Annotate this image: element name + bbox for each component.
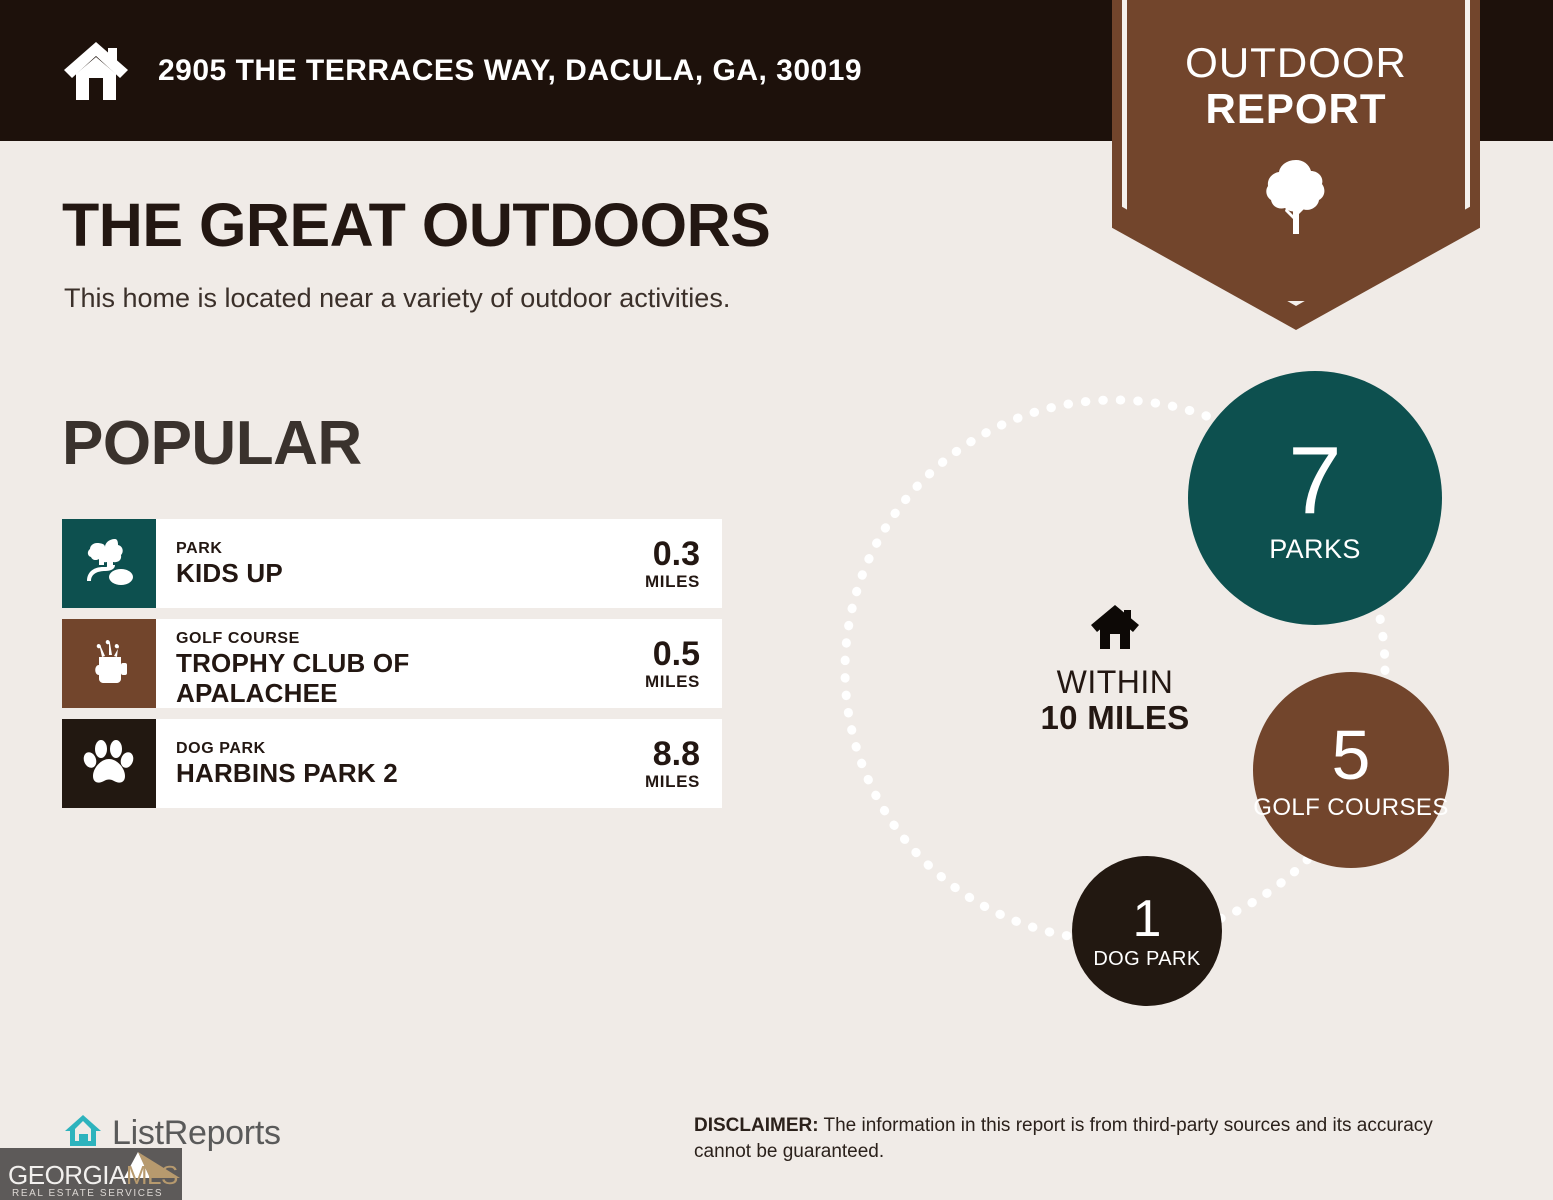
poi-category: DOG PARK [176, 739, 550, 758]
popular-list: PARK KIDS UP 0.3 MILES GOLF COURSE [62, 519, 722, 819]
radius-bubble-diagram: WITHIN 10 MILES 7 PARKS 5 GOLF COURSES 1… [820, 360, 1480, 1040]
bubble-golf-value: 5 [1332, 720, 1371, 790]
poi-name: HARBINS PARK 2 [176, 758, 550, 788]
poi-distance: 8.8 MILES [550, 719, 722, 808]
center-home-marker: WITHIN 10 MILES [1010, 603, 1220, 736]
poi-distance-unit: MILES [645, 572, 700, 592]
popular-heading: POPULAR [62, 408, 362, 479]
poi-distance-value: 0.3 [653, 536, 700, 572]
poi-distance: 0.5 MILES [550, 619, 722, 708]
page-subtitle: This home is located near a variety of o… [64, 283, 730, 314]
bubble-dog-value: 1 [1133, 893, 1162, 945]
bubble-parks-value: 7 [1288, 433, 1341, 529]
poi-icon-tile [62, 619, 156, 708]
list-item[interactable]: PARK KIDS UP 0.3 MILES [62, 519, 722, 608]
disclaimer-label: DISCLAIMER: [694, 1115, 819, 1136]
mls-tagline: REAL ESTATE SERVICES [12, 1188, 163, 1199]
poi-category: PARK [176, 539, 550, 558]
list-item[interactable]: DOG PARK HARBINS PARK 2 8.8 MILES [62, 719, 722, 808]
bubble-parks-label: PARKS [1269, 535, 1361, 563]
home-icon [62, 40, 130, 102]
list-item[interactable]: GOLF COURSE TROPHY CLUB OF APALACHEE 0.5… [62, 619, 722, 708]
page-title: THE GREAT OUTDOORS [62, 190, 770, 260]
center-label-line2: 10 MILES [1010, 700, 1220, 736]
mls-wordmark: GEORGIAMLS [8, 1161, 178, 1189]
poi-distance-unit: MILES [645, 772, 700, 792]
poi-name: KIDS UP [176, 558, 550, 588]
center-label-line1: WITHIN [1010, 664, 1220, 700]
property-address: 2905 THE TERRACES WAY, DACULA, GA, 30019 [158, 54, 862, 88]
disclaimer: DISCLAIMER: The information in this repo… [694, 1113, 1494, 1165]
badge-title-line2: REPORT [1112, 86, 1480, 132]
bubble-golf-courses[interactable]: 5 GOLF COURSES [1253, 672, 1449, 868]
bubble-golf-label: GOLF COURSES [1253, 795, 1449, 820]
georgia-mls-logo[interactable]: GEORGIAMLS REAL ESTATE SERVICES [0, 1148, 182, 1200]
badge-title: OUTDOOR REPORT [1112, 40, 1480, 132]
mls-wordmark-mls: MLS [126, 1160, 178, 1190]
poi-icon-tile [62, 519, 156, 608]
home-icon [1089, 638, 1141, 655]
poi-category: GOLF COURSE [176, 629, 550, 648]
golf-bag-icon [83, 635, 135, 692]
poi-icon-tile [62, 719, 156, 808]
park-trees-icon [83, 535, 135, 592]
poi-name: TROPHY CLUB OF APALACHEE [176, 648, 550, 708]
poi-info: DOG PARK HARBINS PARK 2 [156, 719, 550, 808]
poi-info: PARK KIDS UP [156, 519, 550, 608]
bubble-dog-park[interactable]: 1 DOG PARK [1072, 856, 1222, 1006]
badge-title-line1: OUTDOOR [1112, 40, 1480, 86]
tree-icon [1264, 158, 1328, 236]
outdoor-report-badge: OUTDOOR REPORT [1112, 0, 1480, 330]
poi-distance: 0.3 MILES [550, 519, 722, 608]
bubble-parks[interactable]: 7 PARKS [1188, 371, 1442, 625]
header-content: 2905 THE TERRACES WAY, DACULA, GA, 30019 [62, 0, 862, 141]
poi-info: GOLF COURSE TROPHY CLUB OF APALACHEE [156, 619, 550, 708]
poi-distance-value: 0.5 [653, 636, 700, 672]
poi-distance-value: 8.8 [653, 736, 700, 772]
paw-print-icon [83, 735, 135, 792]
mls-wordmark-georgia: GEORGIA [8, 1160, 126, 1190]
poi-distance-unit: MILES [645, 672, 700, 692]
bubble-dog-label: DOG PARK [1093, 949, 1200, 970]
